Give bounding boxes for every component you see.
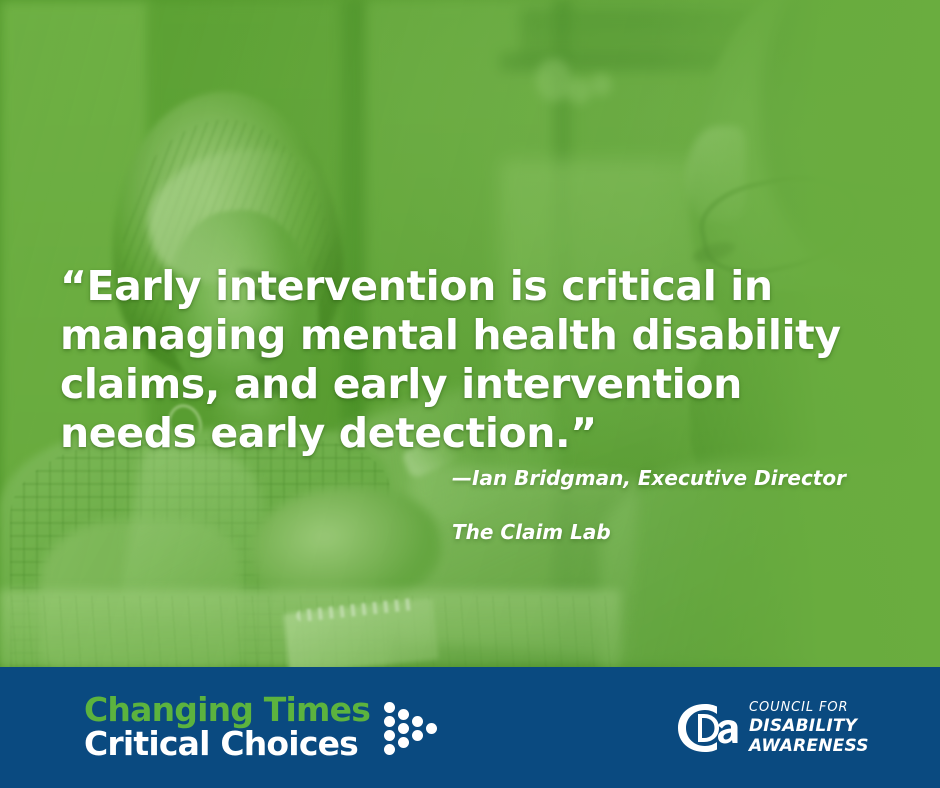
brand-line-changing-times: Changing Times (84, 693, 370, 727)
brand-line-critical-choices: Critical Choices (84, 727, 370, 761)
da-monogram-icon (676, 703, 738, 753)
quote-text: “Early intervention is critical in manag… (60, 262, 890, 458)
quote-card: “Early intervention is critical in manag… (0, 0, 940, 788)
brand-lockup: Changing Times Critical Choices (84, 693, 440, 761)
attribution-org: The Claim Lab (452, 519, 846, 546)
council-for-disability-awareness-logo: COUNCIL FOR DISABILITY AWARENESS (676, 700, 940, 756)
logo-line-disability-awareness: DISABILITY AWARENESS (749, 716, 940, 756)
quote-block: “Early intervention is critical in manag… (60, 262, 890, 458)
chevron-dots-icon (384, 700, 440, 756)
logo-wordmark: COUNCIL FOR DISABILITY AWARENESS (749, 700, 940, 756)
attribution-name: —Ian Bridgman, Executive Director (452, 465, 846, 492)
quote-attribution: —Ian Bridgman, Executive Director The Cl… (452, 438, 846, 573)
logo-line-council-for: COUNCIL FOR (749, 700, 940, 716)
brand-wordmark: Changing Times Critical Choices (84, 693, 370, 761)
